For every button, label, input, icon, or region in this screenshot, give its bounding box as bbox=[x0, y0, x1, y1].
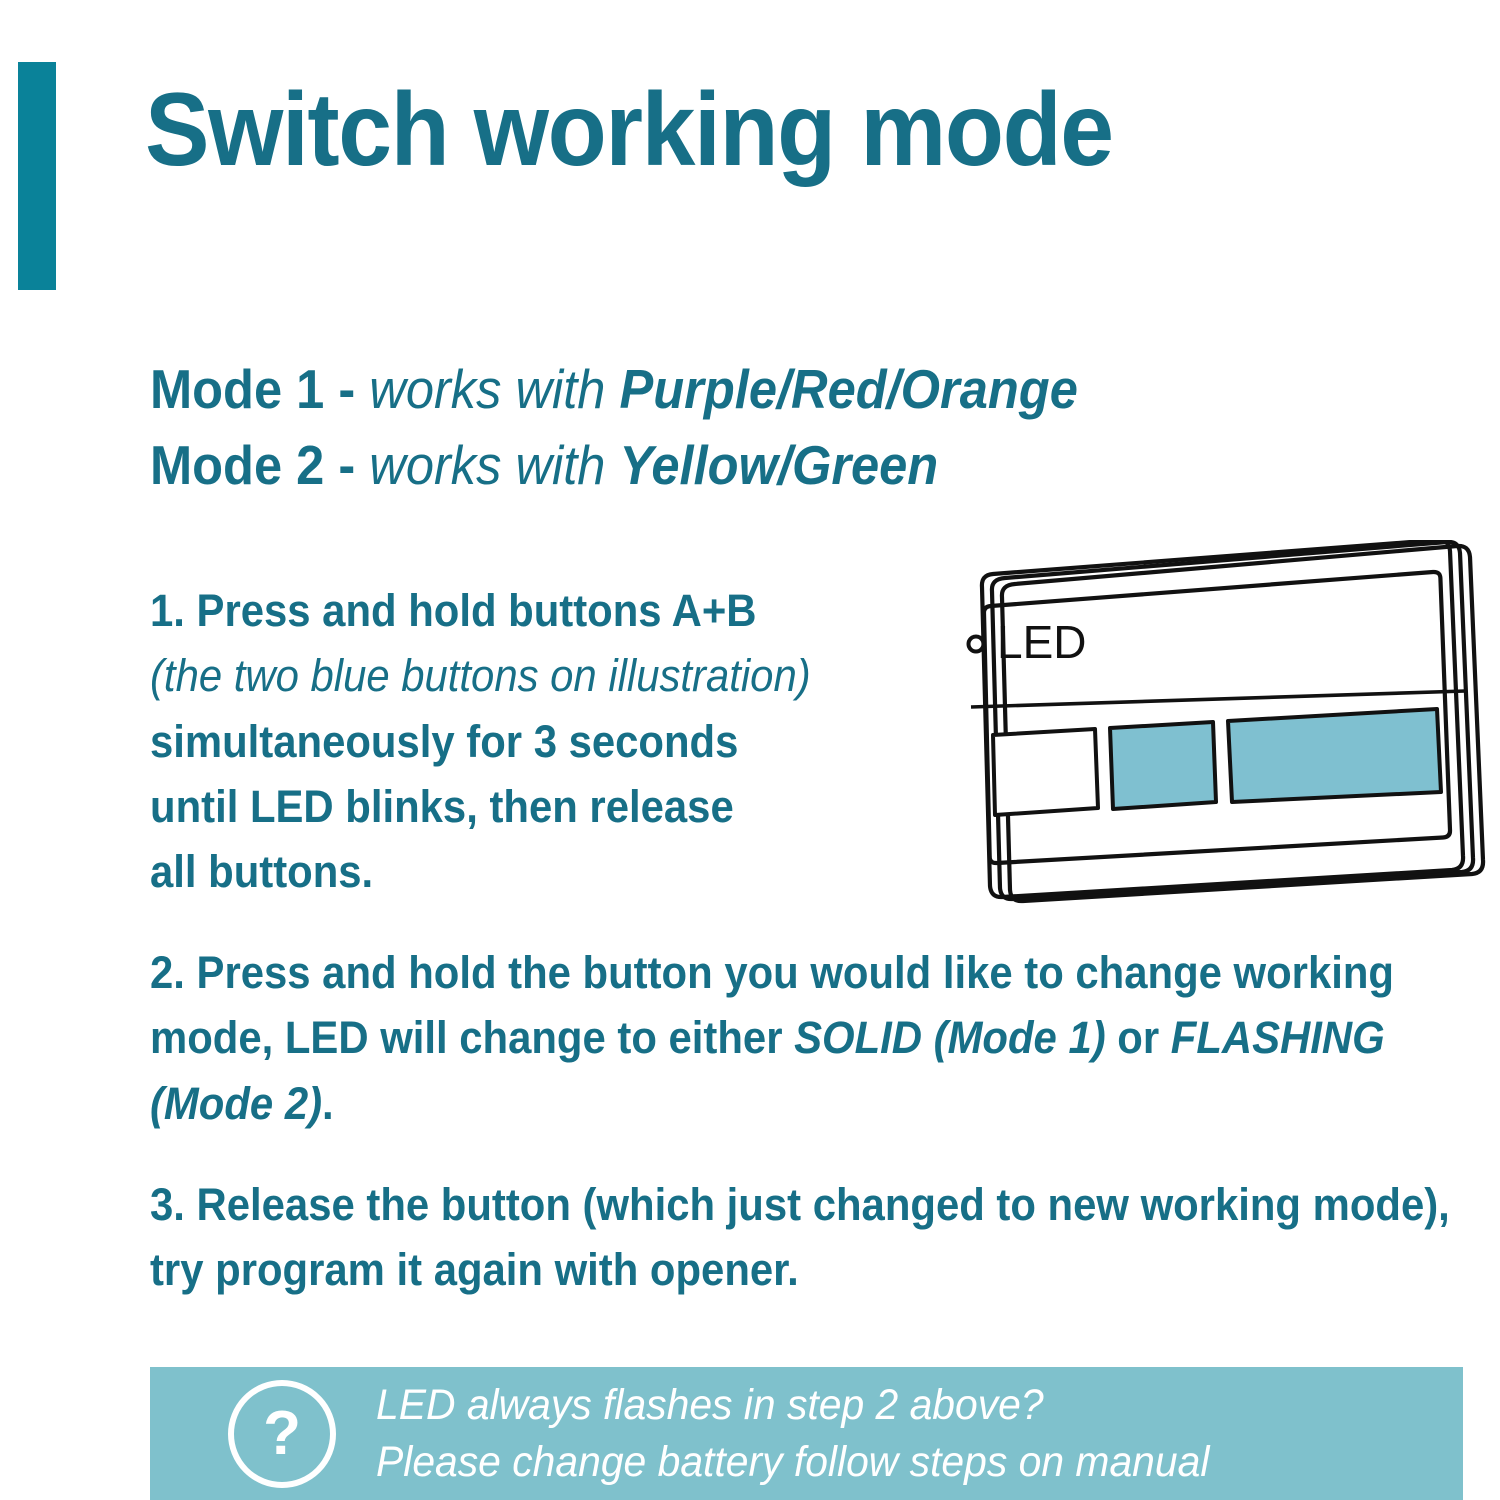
button-a-blue bbox=[1110, 722, 1216, 809]
mode-2-colors: Yellow/Green bbox=[620, 434, 939, 496]
remote-divider-line bbox=[971, 691, 1465, 707]
page-title: Switch working mode bbox=[145, 78, 1373, 182]
question-mark-icon: ? bbox=[228, 1380, 336, 1488]
mode-1-colors: Purple/Red/Orange bbox=[620, 358, 1078, 420]
step-2-part-3: . bbox=[322, 1078, 334, 1129]
callout-line-2: Please change battery follow steps on ma… bbox=[376, 1434, 1409, 1491]
mode-1-lead: Mode 1 - bbox=[150, 358, 369, 420]
mode-1-mid: works with bbox=[369, 358, 619, 420]
step-2-part-2: or bbox=[1106, 1012, 1171, 1063]
led-dot-icon bbox=[969, 637, 984, 652]
step-1-text: 1. Press and hold buttons A+B (the two b… bbox=[150, 578, 968, 904]
step-1-line-2: (the two blue buttons on illustration) bbox=[150, 643, 968, 708]
step-1-line-5: all buttons. bbox=[150, 839, 968, 904]
instruction-page: Switch working mode Mode 1 - works with … bbox=[0, 0, 1500, 1500]
button-b-blue bbox=[1228, 709, 1441, 802]
mode-line-1: Mode 1 - works with Purple/Red/Orange bbox=[150, 352, 1346, 428]
remote-control-illustration: LED bbox=[945, 540, 1490, 915]
step-3-text: 3. Release the button (which just change… bbox=[150, 1172, 1500, 1303]
step-1-line-3: simultaneously for 3 seconds bbox=[150, 709, 968, 774]
step-1-line-1: 1. Press and hold buttons A+B bbox=[150, 578, 968, 643]
led-label: LED bbox=[997, 616, 1086, 668]
mode-2-lead: Mode 2 - bbox=[150, 434, 369, 496]
step-2-text: 2. Press and hold the button you would l… bbox=[150, 940, 1500, 1136]
mode-line-2: Mode 2 - works with Yellow/Green bbox=[150, 428, 1346, 504]
step-2-italic-solid: SOLID (Mode 1) bbox=[794, 1012, 1106, 1063]
mode-legend: Mode 1 - works with Purple/Red/Orange Mo… bbox=[150, 352, 1450, 504]
callout-line-1: LED always flashes in step 2 above? bbox=[376, 1377, 1409, 1434]
help-callout-banner: ? LED always flashes in step 2 above? Pl… bbox=[150, 1367, 1463, 1500]
title-accent-bar bbox=[18, 62, 56, 290]
button-left-white bbox=[993, 729, 1098, 815]
mode-2-mid: works with bbox=[369, 434, 619, 496]
callout-text: LED always flashes in step 2 above? Plea… bbox=[376, 1377, 1409, 1491]
step-1-line-4: until LED blinks, then release bbox=[150, 774, 968, 839]
